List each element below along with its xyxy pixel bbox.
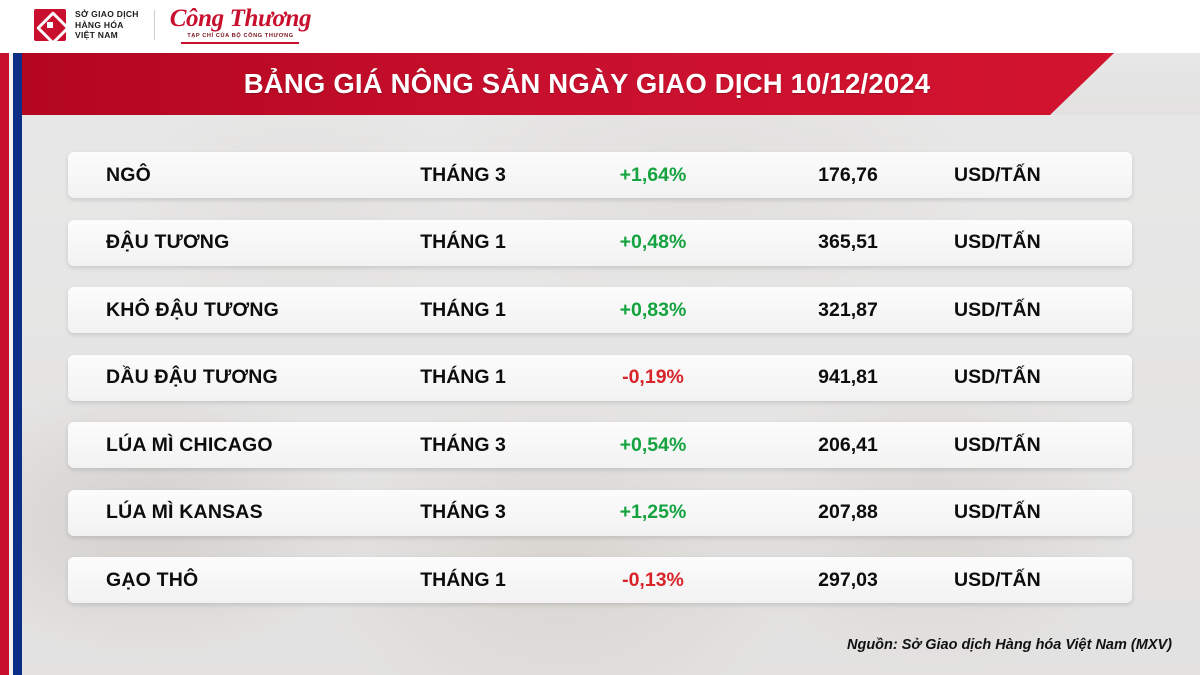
- contract-month: THÁNG 3: [368, 164, 558, 187]
- price-value: 365,51: [748, 231, 948, 254]
- commodity-name: KHÔ ĐẬU TƯƠNG: [68, 299, 368, 322]
- price-unit: USD/TẤN: [948, 231, 1132, 254]
- title-banner: BẢNG GIÁ NÔNG SẢN NGÀY GIAO DỊCH 10/12/2…: [22, 53, 1200, 115]
- source-note: Nguồn: Sở Giao dịch Hàng hóa Việt Nam (M…: [847, 637, 1172, 653]
- contract-month: THÁNG 3: [368, 501, 558, 524]
- price-value: 176,76: [748, 164, 948, 187]
- price-unit: USD/TẤN: [948, 164, 1132, 187]
- commodity-name: NGÔ: [68, 164, 368, 187]
- price-value: 206,41: [748, 434, 948, 457]
- contract-month: THÁNG 3: [368, 434, 558, 457]
- logo-line-1: SỞ GIAO DỊCH: [75, 9, 139, 20]
- logo-area: SỞ GIAO DỊCH HÀNG HÓA VIỆT NAM Công Thươ…: [34, 6, 311, 44]
- contract-month: THÁNG 1: [368, 231, 558, 254]
- logo-line-2: HÀNG HÓA: [75, 20, 139, 31]
- table-row: DẦU ĐẬU TƯƠNG THÁNG 1 -0,19% 941,81 USD/…: [68, 355, 1132, 401]
- price-unit: USD/TẤN: [948, 569, 1132, 592]
- commodity-name: LÚA MÌ KANSAS: [68, 501, 368, 524]
- price-value: 321,87: [748, 299, 948, 322]
- stripe-red: [0, 0, 9, 675]
- table-row: LÚA MÌ KANSAS THÁNG 3 +1,25% 207,88 USD/…: [68, 490, 1132, 536]
- commodity-name: ĐẬU TƯƠNG: [68, 231, 368, 254]
- contract-month: THÁNG 1: [368, 366, 558, 389]
- price-unit: USD/TẤN: [948, 366, 1132, 389]
- brand-name: Công Thương: [170, 6, 311, 31]
- price-table: NGÔ THÁNG 3 +1,64% 176,76 USD/TẤN ĐẬU TƯ…: [68, 152, 1132, 625]
- commodity-name: DẦU ĐẬU TƯƠNG: [68, 366, 368, 389]
- price-value: 207,88: [748, 501, 948, 524]
- contract-month: THÁNG 1: [368, 299, 558, 322]
- price-unit: USD/TẤN: [948, 434, 1132, 457]
- price-unit: USD/TẤN: [948, 501, 1132, 524]
- mxv-logo-icon: [34, 9, 66, 41]
- brand-subtitle: TẠP CHÍ CỦA BỘ CÔNG THƯƠNG: [187, 34, 293, 40]
- congthuong-brand: Công Thương TẠP CHÍ CỦA BỘ CÔNG THƯƠNG: [170, 6, 311, 44]
- price-change: +1,64%: [558, 164, 748, 187]
- price-change: +0,54%: [558, 434, 748, 457]
- table-row: KHÔ ĐẬU TƯƠNG THÁNG 1 +0,83% 321,87 USD/…: [68, 287, 1132, 333]
- page-title: BẢNG GIÁ NÔNG SẢN NGÀY GIAO DỊCH 10/12/2…: [22, 53, 1200, 115]
- infographic-page: SỞ GIAO DỊCH HÀNG HÓA VIỆT NAM Công Thươ…: [0, 0, 1200, 675]
- price-value: 297,03: [748, 569, 948, 592]
- stripe-blue: [13, 0, 22, 675]
- contract-month: THÁNG 1: [368, 569, 558, 592]
- table-row: ĐẬU TƯƠNG THÁNG 1 +0,48% 365,51 USD/TẤN: [68, 220, 1132, 266]
- logo-line-3: VIỆT NAM: [75, 30, 139, 41]
- page-header: SỞ GIAO DỊCH HÀNG HÓA VIỆT NAM Công Thươ…: [0, 0, 1200, 53]
- price-change: -0,13%: [558, 569, 748, 592]
- commodity-name: LÚA MÌ CHICAGO: [68, 434, 368, 457]
- mxv-logo-text: SỞ GIAO DỊCH HÀNG HÓA VIỆT NAM: [75, 9, 139, 41]
- price-change: +1,25%: [558, 501, 748, 524]
- table-row: GẠO THÔ THÁNG 1 -0,13% 297,03 USD/TẤN: [68, 557, 1132, 603]
- price-change: -0,19%: [558, 366, 748, 389]
- left-color-stripes: [0, 0, 22, 675]
- table-row: LÚA MÌ CHICAGO THÁNG 3 +0,54% 206,41 USD…: [68, 422, 1132, 468]
- commodity-name: GẠO THÔ: [68, 569, 368, 592]
- table-row: NGÔ THÁNG 3 +1,64% 176,76 USD/TẤN: [68, 152, 1132, 198]
- price-change: +0,83%: [558, 299, 748, 322]
- price-unit: USD/TẤN: [948, 299, 1132, 322]
- logo-divider: [154, 10, 155, 40]
- price-change: +0,48%: [558, 231, 748, 254]
- price-value: 941,81: [748, 366, 948, 389]
- brand-underline: [181, 42, 299, 44]
